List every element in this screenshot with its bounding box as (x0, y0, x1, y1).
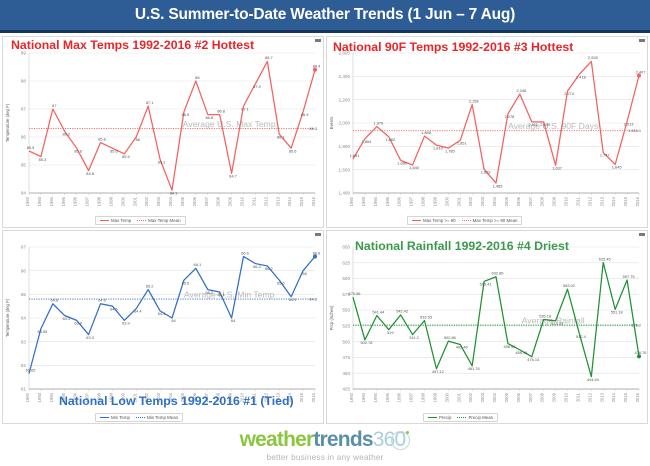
data-point-label: 542.42 (396, 309, 408, 314)
y-axis-tick: 2,400 (339, 74, 351, 79)
legend-line-icon (412, 220, 421, 221)
x-axis-tick: 2013 (599, 196, 604, 206)
x-axis-tick: 2013 (599, 392, 604, 402)
x-axis-tick: 2001 (456, 392, 461, 402)
footer-branding: weathertrends360 better business in any … (0, 424, 650, 466)
y-axis-tick: 63 (21, 339, 27, 344)
data-point-label: 63.55 (38, 329, 48, 334)
y-axis-tick: 85 (21, 163, 27, 168)
data-point-label: 87.9 (253, 84, 261, 89)
x-axis-tick: 2016 (311, 196, 316, 206)
mean-annotation: Average U.S. 90F Days (508, 121, 598, 131)
x-axis-tick: 1993 (37, 196, 42, 206)
y-axis-label: Events (329, 117, 334, 130)
data-point-label: 85.2 (158, 160, 166, 165)
legend-item-series: Max Temp >= 90 (412, 218, 456, 223)
chart-panel-max-temp[interactable]: National Max Temps 1992-2016 #2 Hottest … (2, 36, 324, 228)
chart-legend-max-temp[interactable]: Max Temp Max Temp Mean (95, 216, 186, 225)
data-point-label: 64.6 (51, 298, 59, 303)
legend-item-series: Max Temp (100, 218, 131, 223)
x-axis-tick: 2003 (480, 392, 485, 402)
data-point-label: 66 (302, 271, 306, 276)
x-axis-tick: 2009 (552, 392, 557, 402)
last-data-point-marker (313, 68, 317, 72)
data-point-label: 2,009 (540, 122, 550, 127)
data-point-label: 2,078 (505, 114, 515, 119)
data-point-label: 84.7 (229, 174, 237, 179)
x-axis-tick: 1994 (373, 196, 378, 206)
x-axis-tick: 1993 (361, 392, 366, 402)
x-axis-tick: 2014 (611, 196, 616, 206)
chart-legend-min-temp[interactable]: Min Temp Min Temp Mean (95, 413, 183, 422)
x-axis-tick: 2011 (251, 196, 256, 206)
data-point-label: 66.6 (241, 250, 249, 255)
x-axis-tick: 1993 (37, 392, 42, 402)
data-point-label: 1,680 (397, 161, 408, 166)
data-point-label: 1,785 (445, 148, 455, 153)
data-point-label: 496.99 (503, 344, 515, 349)
x-axis-tick: 2002 (468, 196, 473, 206)
data-point-label: 2,407 (636, 69, 646, 74)
chart-title-min-temp: National Low Temps 1992-2016 #1 (Tied) (59, 394, 294, 408)
y-axis-tick: 1,400 (339, 191, 351, 196)
x-axis-tick: 2002 (468, 392, 473, 402)
y-axis-tick: 67 (21, 245, 27, 250)
data-point-label: 64.4 (134, 309, 142, 314)
x-axis-tick: 1998 (97, 196, 102, 206)
data-point-label: 2,248 (516, 88, 526, 93)
data-point-label: 85.6 (74, 148, 82, 153)
data-point-label: 1,645 (612, 165, 622, 170)
data-point-label: 64 (231, 318, 236, 323)
legend-line-icon (100, 220, 109, 221)
legend-item-mean: Max Temp >= 90 Mean (462, 218, 518, 223)
data-point-label: 87.1 (241, 106, 249, 111)
x-axis-tick: 2005 (180, 196, 185, 206)
x-axis-tick: 2007 (528, 392, 533, 402)
x-axis-tick: 2003 (156, 196, 161, 206)
x-axis-tick: 1996 (397, 392, 402, 402)
x-axis-tick: 1994 (373, 392, 378, 402)
data-point-label: 583.02 (563, 283, 575, 288)
y-axis-tick: 625 (342, 260, 350, 265)
legend-item-mean: Precip Mean (457, 415, 493, 420)
data-point-label: 597.75 (623, 274, 635, 279)
y-axis-tick: 525 (342, 323, 350, 328)
x-axis-tick: 2012 (587, 196, 592, 206)
mean-value-label: 86.3 (309, 126, 317, 131)
legend-item-series: Min Temp (100, 415, 130, 420)
x-axis-tick: 2007 (204, 196, 209, 206)
y-axis-tick: 1,600 (339, 167, 351, 172)
x-axis-tick: 1999 (108, 196, 113, 206)
x-axis-tick: 2000 (120, 196, 125, 206)
x-axis-tick: 1997 (85, 196, 90, 206)
x-axis-tick: 1997 (409, 196, 414, 206)
x-axis-tick: 2010 (240, 196, 245, 206)
data-point-label: 66.1 (194, 262, 202, 267)
chart-title-max-temp: National Max Temps 1992-2016 #2 Hottest (11, 38, 254, 52)
y-axis-tick: 66 (21, 268, 27, 273)
data-point-label: 551.18 (611, 310, 623, 315)
data-point-label: 63.9 (122, 321, 130, 326)
panel-handle-icon[interactable] (639, 39, 645, 42)
chart-panel-rainfall[interactable]: National Rainfall 1992-2016 #4 Driest 42… (326, 230, 648, 424)
data-point-label: 84.1 (170, 190, 178, 195)
data-point-label: 86.2 (62, 132, 70, 137)
data-point-label: 64.3 (158, 311, 166, 316)
data-point-label: 65.6 (182, 280, 190, 285)
header-divider (0, 30, 650, 33)
last-data-point-marker (637, 74, 641, 78)
data-point-label: 88.7 (265, 55, 273, 60)
data-point-label: 486.98 (515, 350, 527, 355)
x-axis-tick: 1999 (432, 392, 437, 402)
mean-annotation: Average U.S. Max Temp (183, 119, 276, 129)
x-axis-tick: 2002 (144, 196, 149, 206)
legend-dotted-icon (462, 220, 471, 221)
mean-annotation: Average U.S. Min Temp (184, 290, 275, 300)
data-point-label: 2,013 (624, 122, 634, 127)
data-point-label: 63.9 (74, 321, 82, 326)
x-axis-tick: 2009 (552, 196, 557, 206)
legend-label-mean: Precip Mean (468, 415, 493, 420)
data-point-label: 476.76 (635, 350, 647, 355)
data-point-label: 500.86 (444, 335, 456, 340)
y-axis-tick: 650 (342, 245, 350, 250)
data-point-label: 86.8 (217, 108, 225, 113)
chart-plot-90f-days[interactable]: 1,4001,6001,8002,0002,2002,4002,600Event… (327, 37, 647, 227)
data-point-label: 86 (136, 137, 140, 142)
data-point-label: 85.6 (110, 148, 118, 153)
data-point-label: 63.3 (86, 335, 94, 340)
logo-word-trends: trends (313, 428, 372, 452)
data-point-label: 476.14 (527, 357, 540, 362)
data-point-label: 519 (387, 330, 394, 335)
data-point-label: 1,637 (552, 166, 562, 171)
data-point-label: 1,882 (385, 137, 395, 142)
data-point-label: 85.3 (39, 157, 47, 162)
x-axis-tick: 2006 (516, 392, 521, 402)
y-axis-tick: 65 (21, 292, 27, 297)
x-axis-tick: 1993 (361, 196, 366, 206)
data-point-label: 1,691 (350, 153, 360, 158)
y-axis-tick: 2,000 (339, 121, 351, 126)
x-axis-tick: 2004 (492, 196, 497, 206)
x-axis-tick: 1997 (409, 392, 414, 402)
x-axis-tick: 2014 (611, 392, 616, 402)
x-axis-tick: 1992 (349, 392, 354, 402)
y-axis-label: Prcp (inches) (329, 305, 334, 330)
series-line (29, 256, 315, 373)
panel-handle-icon[interactable] (315, 233, 321, 236)
chart-title-rainfall: National Rainfall 1992-2016 #4 Driest (355, 239, 569, 253)
data-point-label: 511.2 (409, 335, 418, 340)
x-axis-tick: 2001 (132, 196, 137, 206)
data-point-label: 1,603 (481, 170, 491, 175)
x-axis-tick: 2015 (623, 196, 628, 206)
x-axis-tick: 1998 (421, 196, 426, 206)
y-axis-tick: 87 (21, 107, 27, 112)
data-point-label: 1,864 (362, 139, 373, 144)
data-point-label: 533.53 (420, 314, 432, 319)
data-point-label: 61.65 (26, 367, 36, 372)
data-point-label: 66.3 (253, 264, 261, 269)
data-point-label: 2,418 (576, 74, 586, 79)
page-header: U.S. Summer-to-Date Weather Trends (1 Ju… (0, 0, 650, 30)
chart-legend-rainfall[interactable]: Precip Precip Mean (423, 413, 498, 422)
data-point-label: 85.5 (27, 145, 35, 150)
x-axis-tick: 2003 (480, 196, 485, 206)
chart-svg-days-90f: 1,4001,6001,8002,0002,2002,4002,600Event… (327, 37, 647, 227)
data-point-label: 64.5 (110, 306, 118, 311)
data-point-label: 64 (171, 318, 176, 323)
x-axis-tick: 1999 (432, 196, 437, 206)
y-axis-tick: 1,800 (339, 144, 351, 149)
x-axis-tick: 2016 (635, 196, 640, 206)
legend-dotted-icon (457, 417, 466, 418)
x-axis-tick: 2015 (299, 392, 304, 402)
data-point-label: 512.4 (576, 334, 587, 339)
y-axis-tick: 425 (342, 387, 350, 392)
x-axis-tick: 2008 (540, 196, 545, 206)
mean-value-label: 526.2 (631, 322, 641, 327)
last-data-point-marker (313, 254, 317, 258)
slide-root: U.S. Summer-to-Date Weather Trends (1 Ju… (0, 0, 650, 466)
chart-plot-max-temp[interactable]: 848586878889Temperature (deg F)199219931… (3, 37, 323, 227)
y-axis-tick: 450 (342, 371, 350, 376)
x-axis-tick: 2001 (456, 196, 461, 206)
data-point-label: 1,888 (421, 130, 431, 135)
data-point-label: 84.8 (86, 171, 94, 176)
data-point-label: 85.4 (122, 154, 130, 159)
data-point-label: 87 (52, 103, 56, 108)
data-point-label: 457.12 (432, 369, 444, 374)
chart-legend-90f-days[interactable]: Max Temp >= 90 Max Temp >= 90 Mean (407, 216, 522, 225)
data-point-label: 570.56 (349, 291, 361, 296)
data-point-label: 1,747 (600, 153, 610, 158)
data-point-label: 1,640 (409, 165, 420, 170)
logo: weathertrends360 (240, 428, 411, 452)
data-point-label: 461.76 (468, 366, 480, 371)
x-axis-tick: 2013 (275, 196, 280, 206)
x-axis-tick: 2008 (540, 392, 545, 402)
data-point-label: 64.9 (289, 297, 297, 302)
x-axis-tick: 2000 (444, 196, 449, 206)
data-point-label: 625.45 (599, 256, 611, 261)
data-point-label: 66.2 (265, 266, 273, 271)
y-axis-tick: 600 (342, 276, 350, 281)
mean-value-label: 64.8 (309, 296, 317, 301)
legend-label-series: Precip (439, 415, 451, 420)
data-point-label: 1,810 (433, 145, 444, 150)
x-axis-tick: 2000 (444, 392, 449, 402)
chart-svg-rainfall: 425450475500525550575600625650Prcp (inch… (327, 231, 647, 423)
data-point-label: 86.8 (205, 115, 213, 120)
data-point-label: 2,274 (564, 91, 575, 96)
x-axis-tick: 1994 (49, 392, 54, 402)
panel-handle-icon[interactable] (315, 39, 321, 42)
data-point-label: 533.03 (551, 321, 563, 326)
x-axis-tick: 2016 (635, 392, 640, 402)
data-point-label: 85.8 (98, 136, 106, 141)
x-axis-tick: 2007 (528, 196, 533, 206)
data-point-label: 86.1 (277, 134, 285, 139)
legend-line-icon (428, 417, 437, 418)
chart-plot-rainfall[interactable]: 425450475500525550575600625650Prcp (inch… (327, 231, 647, 423)
x-axis-tick: 2006 (192, 196, 197, 206)
data-point-label: 88.4 (313, 64, 321, 69)
x-axis-tick: 2010 (564, 196, 569, 206)
legend-dotted-icon (137, 220, 146, 221)
panel-handle-icon[interactable] (639, 233, 645, 236)
mean-value-label: 1,934.1 (628, 128, 641, 133)
y-axis-tick: 64 (21, 316, 27, 321)
legend-dotted-icon (136, 417, 145, 418)
page-title: U.S. Summer-to-Date Weather Trends (1 Ju… (135, 6, 515, 24)
y-axis-tick: 2,200 (339, 97, 351, 102)
data-point-label: 495.46 (456, 345, 468, 350)
x-axis-tick: 2005 (504, 196, 509, 206)
x-axis-tick: 2012 (587, 392, 592, 402)
y-axis-tick: 86 (21, 135, 27, 140)
data-point-label: 64.1 (62, 316, 70, 321)
series-line (353, 262, 639, 376)
data-point-label: 65.2 (146, 283, 154, 288)
x-axis-tick: 2014 (287, 196, 292, 206)
x-axis-tick: 1992 (25, 196, 30, 206)
data-point-label: 535.18 (539, 313, 551, 318)
x-axis-tick: 1998 (421, 392, 426, 402)
y-axis-tick: 88 (21, 79, 27, 84)
legend-item-mean: Max Temp Mean (137, 218, 180, 223)
x-axis-tick: 1996 (73, 196, 78, 206)
legend-label-series: Max Temp >= 90 (423, 218, 456, 223)
x-axis-tick: 2015 (623, 392, 628, 402)
y-axis-label: Temperature (deg F) (5, 298, 10, 337)
data-point-label: 87.1 (146, 100, 154, 105)
x-axis-tick: 2005 (504, 392, 509, 402)
legend-line-icon (100, 417, 109, 418)
data-point-label: 85.6 (289, 148, 297, 153)
x-axis-tick: 2011 (575, 392, 580, 402)
x-axis-tick: 2009 (228, 196, 233, 206)
x-axis-tick: 2004 (492, 392, 497, 402)
data-point-label: 595.41 (480, 282, 492, 287)
x-axis-tick: 1995 (385, 392, 390, 402)
data-point-label: 88 (195, 75, 199, 80)
data-point-label: 66.6 (313, 250, 321, 255)
data-point-label: 86.9 (301, 112, 309, 117)
legend-label-mean: Max Temp Mean (148, 218, 180, 223)
legend-item-series: Precip (428, 415, 451, 420)
data-point-label: 1,485 (493, 183, 503, 188)
legend-label-series: Min Temp (111, 415, 130, 420)
legend-item-mean: Min Temp Mean (136, 415, 178, 420)
y-axis-tick: 500 (342, 339, 350, 344)
y-axis-label: Temperature (deg F) (5, 103, 10, 142)
legend-label-mean: Min Temp Mean (147, 415, 178, 420)
y-axis-tick: 84 (21, 191, 27, 196)
x-axis-tick: 2016 (311, 392, 316, 402)
x-axis-tick: 1995 (61, 196, 66, 206)
x-axis-tick: 2011 (575, 196, 580, 206)
chart-title-90f-days: National 90F Temps 1992-2016 #3 Hottest (333, 40, 573, 54)
data-point-label: 444.54 (587, 377, 600, 382)
data-point-label: 602.85 (492, 271, 504, 276)
x-axis-tick: 2008 (216, 196, 221, 206)
last-data-point-marker (637, 354, 641, 358)
chart-panel-90f-days[interactable]: National 90F Temps 1992-2016 #3 Hottest … (326, 36, 648, 228)
data-point-label: 2,158 (469, 98, 479, 103)
x-axis-tick: 1992 (25, 392, 30, 402)
y-axis-tick: 475 (342, 355, 350, 360)
chart-panel-min-temp[interactable]: National Low Temps 1992-2016 #1 (Tied) 6… (2, 230, 324, 424)
legend-label-series: Max Temp (111, 218, 131, 223)
legend-label-mean: Max Temp >= 90 Mean (473, 218, 518, 223)
y-axis-tick: 61 (21, 387, 27, 392)
logo-word-weather: weather (240, 428, 314, 452)
data-point-label: 65.1 (217, 292, 225, 297)
data-point-label: 65.2 (205, 290, 213, 295)
x-axis-tick: 2006 (516, 196, 521, 206)
x-axis-tick: 2012 (263, 196, 268, 206)
x-axis-tick: 2015 (299, 196, 304, 206)
data-point-label: 86.9 (182, 112, 190, 117)
x-axis-tick: 1995 (385, 196, 390, 206)
y-axis-tick: 550 (342, 308, 350, 313)
logo-tagline: better business in any weather (266, 453, 383, 462)
data-point-label: 64.6 (98, 298, 106, 303)
logo-ring-icon (391, 431, 410, 450)
data-point-label: 1,970 (373, 120, 384, 125)
data-point-label: 2,528 (588, 55, 598, 60)
x-axis-tick: 1992 (349, 196, 354, 206)
chart-svg-max-temp: 848586878889Temperature (deg F)199219931… (3, 37, 323, 227)
x-axis-tick: 1994 (49, 196, 54, 206)
x-axis-tick: 2010 (564, 392, 569, 402)
data-point-label: 502.78 (360, 340, 372, 345)
data-point-label: 2,011 (529, 122, 538, 127)
x-axis-tick: 2004 (168, 196, 173, 206)
logo-dot-icon (406, 431, 409, 434)
data-point-label: 541.44 (372, 309, 385, 314)
data-point-label: 65.6 (277, 280, 285, 285)
x-axis-tick: 1996 (397, 196, 402, 206)
data-point-label: 1,851 (457, 141, 467, 146)
